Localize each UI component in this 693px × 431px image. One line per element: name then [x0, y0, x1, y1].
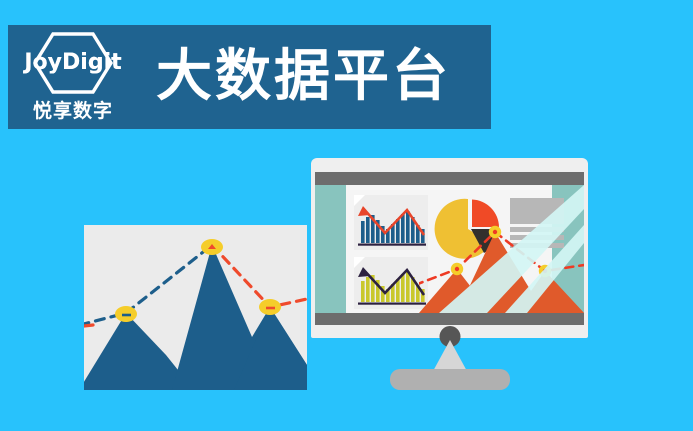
- mountain-line-panel: [84, 225, 307, 390]
- page-fold-icon: [354, 195, 365, 206]
- brand-logo: JoyDigit 悦享数字: [14, 29, 132, 125]
- data-node-center: [493, 230, 497, 234]
- trend-line-red-stub: [84, 325, 93, 326]
- monitor-base: [390, 369, 510, 390]
- trend-line-blue: [84, 245, 212, 325]
- data-node-center: [455, 267, 459, 271]
- orange-mountain-chart: [419, 225, 584, 313]
- placeholder-image-block: [510, 198, 564, 224]
- illustration-canvas: JoyDigit 悦享数字 大数据平台: [0, 0, 693, 431]
- blue-bar-chart-card: [354, 195, 428, 250]
- yellow-bar-chart-svg: [354, 257, 428, 309]
- monitor-screen: [315, 185, 584, 313]
- monitor-top-bezel: [315, 172, 584, 185]
- arrow-head-icon: [358, 206, 370, 216]
- page-fold-icon: [354, 257, 365, 268]
- page-title: 大数据平台: [156, 49, 451, 105]
- blue-bar-chart-svg: [354, 195, 428, 250]
- mountain-line-svg: [84, 225, 307, 390]
- logo-subtitle: 悦享数字: [33, 96, 113, 123]
- yellow-bar-chart-card: [354, 257, 428, 309]
- logo-wordmark: JoyDigit: [24, 52, 121, 74]
- axis-line: [358, 303, 426, 305]
- desktop-monitor: [311, 158, 588, 338]
- data-node-center: [543, 269, 547, 273]
- monitor-bottom-bezel: [315, 313, 584, 325]
- header-banner: JoyDigit 悦享数字 大数据平台: [8, 25, 491, 129]
- screen-left-panel: [315, 185, 346, 313]
- hexagon-icon: JoyDigit: [19, 32, 127, 94]
- arrow-head-icon: [358, 267, 370, 277]
- pie-slice-red: [472, 200, 499, 228]
- axis-line: [358, 244, 426, 246]
